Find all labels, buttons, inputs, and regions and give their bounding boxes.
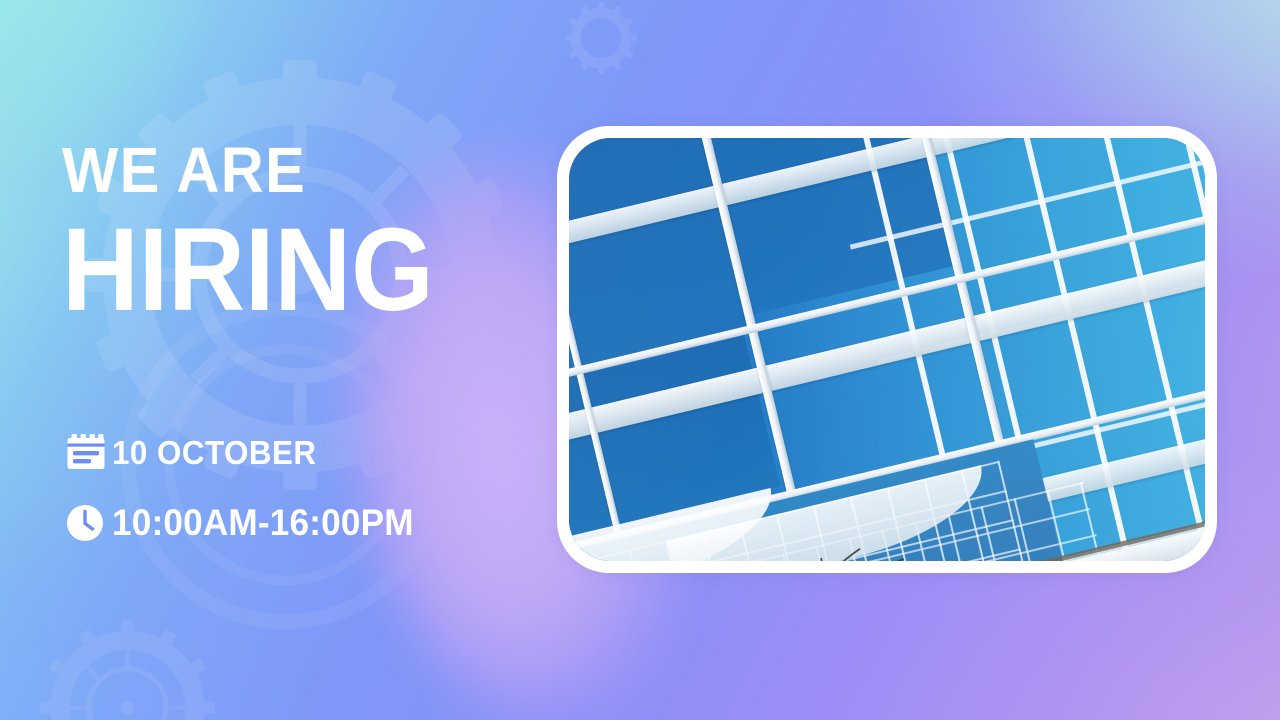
gear-watermark-small-icon [40, 620, 215, 720]
gear-watermark-tiny-icon [565, 2, 637, 74]
page-title: WE ARE HIRING [62, 138, 475, 326]
event-time-label: 10:00AM-16:00PM [112, 502, 414, 544]
calendar-icon [66, 434, 112, 472]
clock-icon [66, 504, 112, 542]
headline-line-1: WE ARE [62, 138, 446, 202]
event-details: 10 OCTOBER 10:00AM-16:00PM [66, 425, 430, 551]
headline-line-2: HIRING [62, 214, 434, 326]
glass-facade-illustration [569, 138, 1205, 561]
event-date-label: 10 OCTOBER [112, 434, 317, 472]
event-date-row: 10 OCTOBER [66, 425, 430, 481]
facade-gloss [569, 138, 1205, 561]
glass-office-building-photo [569, 138, 1205, 561]
building-photo-card [557, 126, 1217, 573]
event-time-row: 10:00AM-16:00PM [66, 495, 430, 551]
hiring-poster: WE ARE HIRING 10 OCTOBER [0, 0, 1280, 720]
